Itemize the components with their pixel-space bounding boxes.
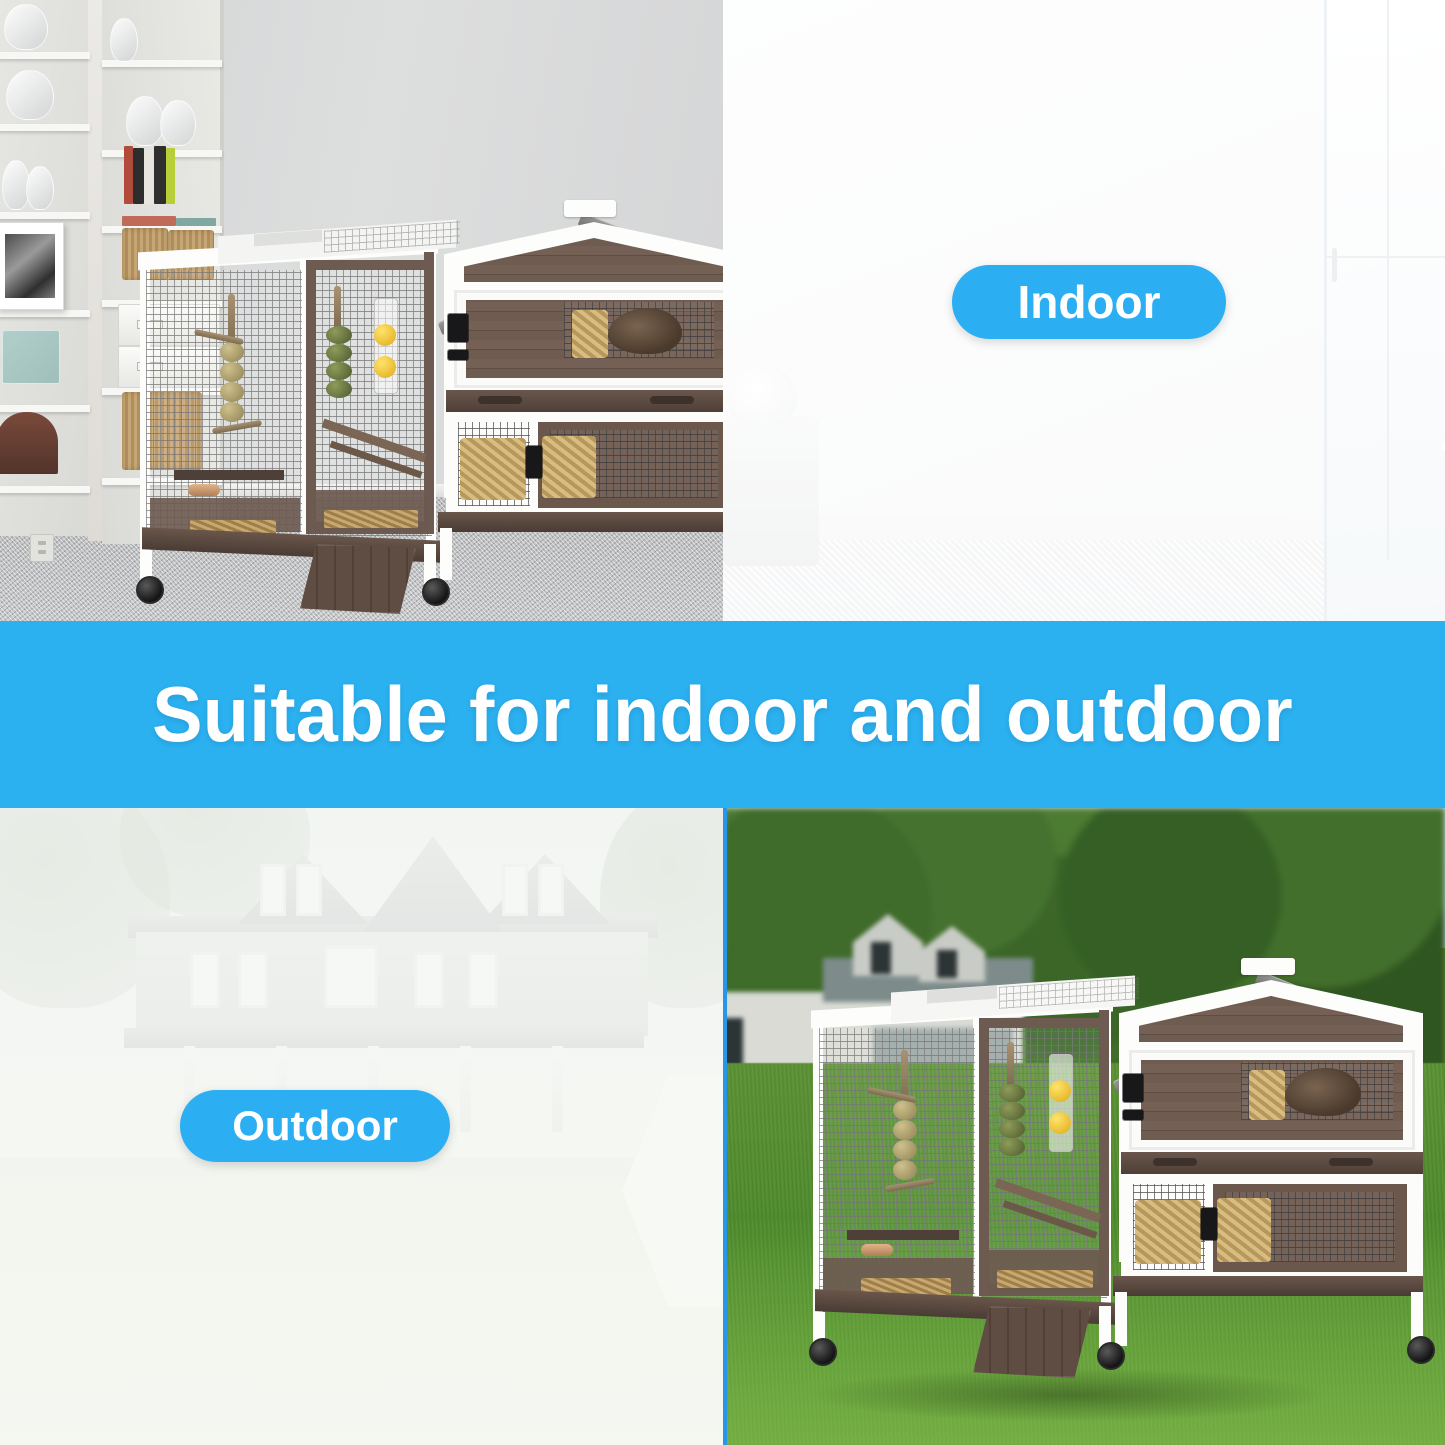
panel-indoor-room-with-hutch: [0, 0, 723, 621]
window-mullion: [1325, 256, 1445, 258]
hay-bundle: [542, 436, 596, 498]
book: [124, 146, 133, 204]
shelf-board: [0, 486, 90, 493]
panel-outdoor-lawn-with-hutch: [723, 808, 1445, 1445]
upper-door-hinge[interactable]: [448, 314, 468, 342]
upper-door-hinge[interactable]: [1123, 1074, 1143, 1102]
book: [166, 148, 175, 204]
badge-outdoor: Outdoor: [180, 1090, 450, 1162]
badge-indoor: Indoor: [952, 265, 1226, 339]
bedding-pellets: [997, 1270, 1093, 1288]
ottoman: [723, 416, 819, 566]
chew-toy-ball: [893, 1100, 917, 1120]
panel-left-edge: [723, 808, 727, 1445]
chew-toy-ball: [326, 380, 352, 398]
feeder-treat: [374, 356, 396, 378]
chew-toy-ball: [220, 382, 244, 402]
caster-wheel[interactable]: [136, 576, 164, 604]
door-jamb: [1324, 0, 1327, 621]
shelf-board: [0, 124, 90, 131]
decor-glass-box: [2, 330, 60, 384]
door-handle[interactable]: [1332, 248, 1337, 282]
run-door-top-rail: [306, 260, 434, 270]
rabbit-hutch-product-indoor: [128, 198, 723, 618]
toy-hanger: [334, 286, 341, 330]
decor-bowl: [126, 96, 164, 146]
chew-toy-ball: [893, 1160, 917, 1180]
shelf-board: [0, 212, 90, 219]
badge-outdoor-label: Outdoor: [232, 1102, 398, 1150]
run-back-ledge: [174, 470, 284, 480]
book: [133, 148, 144, 204]
book: [144, 150, 154, 204]
upper-door-latch[interactable]: [1123, 1110, 1143, 1120]
hay-bundle: [572, 310, 608, 358]
power-outlet: [30, 534, 54, 562]
tray-handle[interactable]: [1153, 1158, 1197, 1166]
chew-toy-ball: [893, 1120, 917, 1140]
decor-vase: [4, 4, 48, 50]
treat-piece: [861, 1244, 893, 1256]
rabbit-hutch-product-outdoor: [801, 956, 1411, 1386]
leg: [440, 528, 452, 580]
hay-bundle: [460, 438, 526, 500]
hay-bundle: [1135, 1200, 1201, 1264]
roof-ridge-cap: [564, 200, 616, 217]
tray-handle[interactable]: [650, 396, 694, 404]
caster-wheel[interactable]: [809, 1338, 837, 1366]
hay-bundle: [1217, 1198, 1271, 1262]
shelf-board: [0, 52, 90, 59]
headline-banner: Suitable for indoor and outdoor: [0, 621, 1445, 808]
chew-toy-ball: [220, 402, 244, 422]
feeder-treat: [1049, 1112, 1071, 1134]
hay-bundle: [1249, 1070, 1285, 1120]
treat-piece: [188, 484, 220, 496]
lower-door-latch[interactable]: [1201, 1208, 1217, 1240]
chew-toy-ball: [999, 1138, 1025, 1156]
run-back-ledge: [847, 1230, 959, 1240]
feeder-treat: [374, 324, 396, 346]
chew-toy-ball: [999, 1102, 1025, 1120]
decor-vase: [26, 166, 54, 210]
window-mullion: [1387, 0, 1389, 560]
upper-door-latch[interactable]: [448, 350, 468, 360]
access-ramp[interactable]: [300, 544, 416, 614]
decor-arch-box: [0, 412, 58, 474]
hay-feeder: [374, 298, 398, 394]
shelf-board: [0, 310, 90, 317]
book: [154, 146, 166, 204]
tray-handle[interactable]: [478, 396, 522, 404]
chew-toy-ball: [220, 342, 244, 362]
run-mesh-left: [146, 270, 302, 532]
decor-vase: [110, 18, 138, 62]
decor-bowl: [160, 100, 196, 146]
lower-door-latch[interactable]: [526, 446, 542, 478]
chew-toy-ball: [326, 326, 352, 344]
chew-toy-ball: [999, 1084, 1025, 1102]
feeder-treat: [1049, 1080, 1071, 1102]
run-door-top-rail: [979, 1018, 1109, 1028]
shelf-board: [0, 405, 90, 412]
decor-bowl: [6, 70, 54, 120]
chew-toy-ball: [326, 362, 352, 380]
chew-toy-ball: [893, 1140, 917, 1160]
leg: [1115, 1292, 1127, 1346]
roof-ridge-cap: [1241, 958, 1295, 975]
toy-hanger: [1007, 1042, 1014, 1088]
hay-feeder: [1049, 1054, 1073, 1152]
caster-wheel[interactable]: [1097, 1342, 1125, 1370]
headline-text: Suitable for indoor and outdoor: [152, 669, 1293, 760]
house-base-rail: [1113, 1276, 1423, 1296]
bedding-pellets: [324, 510, 418, 528]
chew-toy-ball: [326, 344, 352, 362]
chew-toy-ball: [999, 1120, 1025, 1138]
house-base-rail: [438, 512, 723, 532]
chew-toy-ball: [220, 362, 244, 382]
glass-door: [1325, 0, 1445, 621]
product-collage: Indoor Suitable for indoor and outdoor: [0, 0, 1445, 1445]
caster-wheel[interactable]: [1407, 1336, 1435, 1364]
access-ramp[interactable]: [973, 1306, 1091, 1378]
tray-handle[interactable]: [1329, 1158, 1373, 1166]
badge-indoor-label: Indoor: [1017, 275, 1160, 329]
cushion: [727, 365, 797, 431]
caster-wheel[interactable]: [422, 578, 450, 606]
framed-picture: [0, 222, 64, 310]
